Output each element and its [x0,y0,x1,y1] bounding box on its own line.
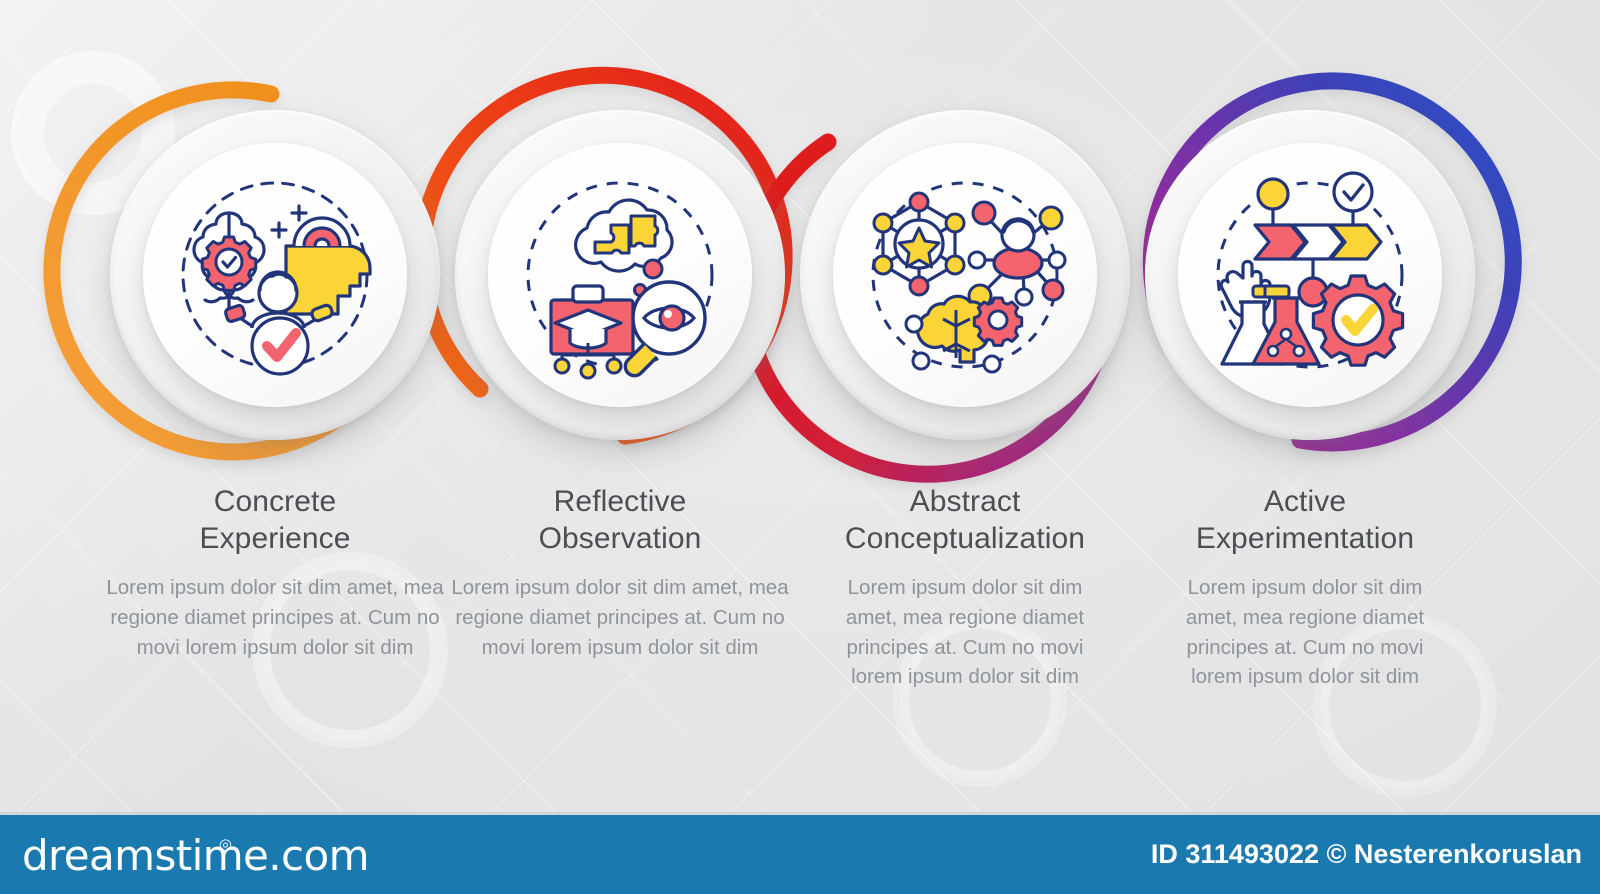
infographic-canvas: Concrete Experience Lorem ipsum dolor si… [0,0,1600,894]
node-disc [833,143,1097,407]
node-disc [143,143,407,407]
caption-title-line1: Concrete [105,484,445,521]
icon-abstract-conceptualization [858,168,1072,382]
icon-reflective-observation [513,168,727,382]
caption-title-line2: Experimentation [1115,521,1495,558]
caption-step-2: Reflective Observation Lorem ipsum dolor… [450,484,790,662]
image-credit: ID 311493022 © Nesterenkoruslan [1151,839,1582,870]
registered-mark-icon: ◎ [219,835,232,853]
caption-title-line2: Experience [105,521,445,558]
step-node-1[interactable] [110,110,440,440]
caption-title-line2: Conceptualization [775,521,1155,558]
caption-title-line2: Observation [450,521,790,558]
caption-title: Reflective Observation [450,484,790,557]
node-disc [488,143,752,407]
caption-title-line1: Reflective [450,484,790,521]
step-node-4[interactable] [1145,110,1475,440]
caption-title: Concrete Experience [105,484,445,557]
caption-step-3: Abstract Conceptualization Lorem ipsum d… [775,484,1155,692]
caption-step-1: Concrete Experience Lorem ipsum dolor si… [105,484,445,662]
icon-concrete-experience [168,168,382,382]
icon-active-experimentation [1203,168,1417,382]
watermark-bar: dreamstime.com◎ ID 311493022 © Nesterenk… [0,812,1600,894]
caption-title-line1: Active [1115,484,1495,521]
caption-title: Active Experimentation [1115,484,1495,557]
caption-body: Lorem ipsum dolor sit dim amet, mea regi… [105,573,445,662]
caption-title: Abstract Conceptualization [775,484,1155,557]
caption-body: Lorem ipsum dolor sit dim amet, mea regi… [450,573,790,662]
step-node-3[interactable] [800,110,1130,440]
dreamstime-logo: dreamstime.com◎ [22,835,381,877]
caption-body: Lorem ipsum dolor sit dim amet, mea regi… [1160,573,1450,692]
dreamstime-logo-text: dreamstime.com [22,831,369,880]
step-node-2[interactable] [455,110,785,440]
caption-step-4: Active Experimentation Lorem ipsum dolor… [1115,484,1495,692]
caption-body: Lorem ipsum dolor sit dim amet, mea regi… [820,573,1110,692]
node-disc [1178,143,1442,407]
caption-title-line1: Abstract [775,484,1155,521]
